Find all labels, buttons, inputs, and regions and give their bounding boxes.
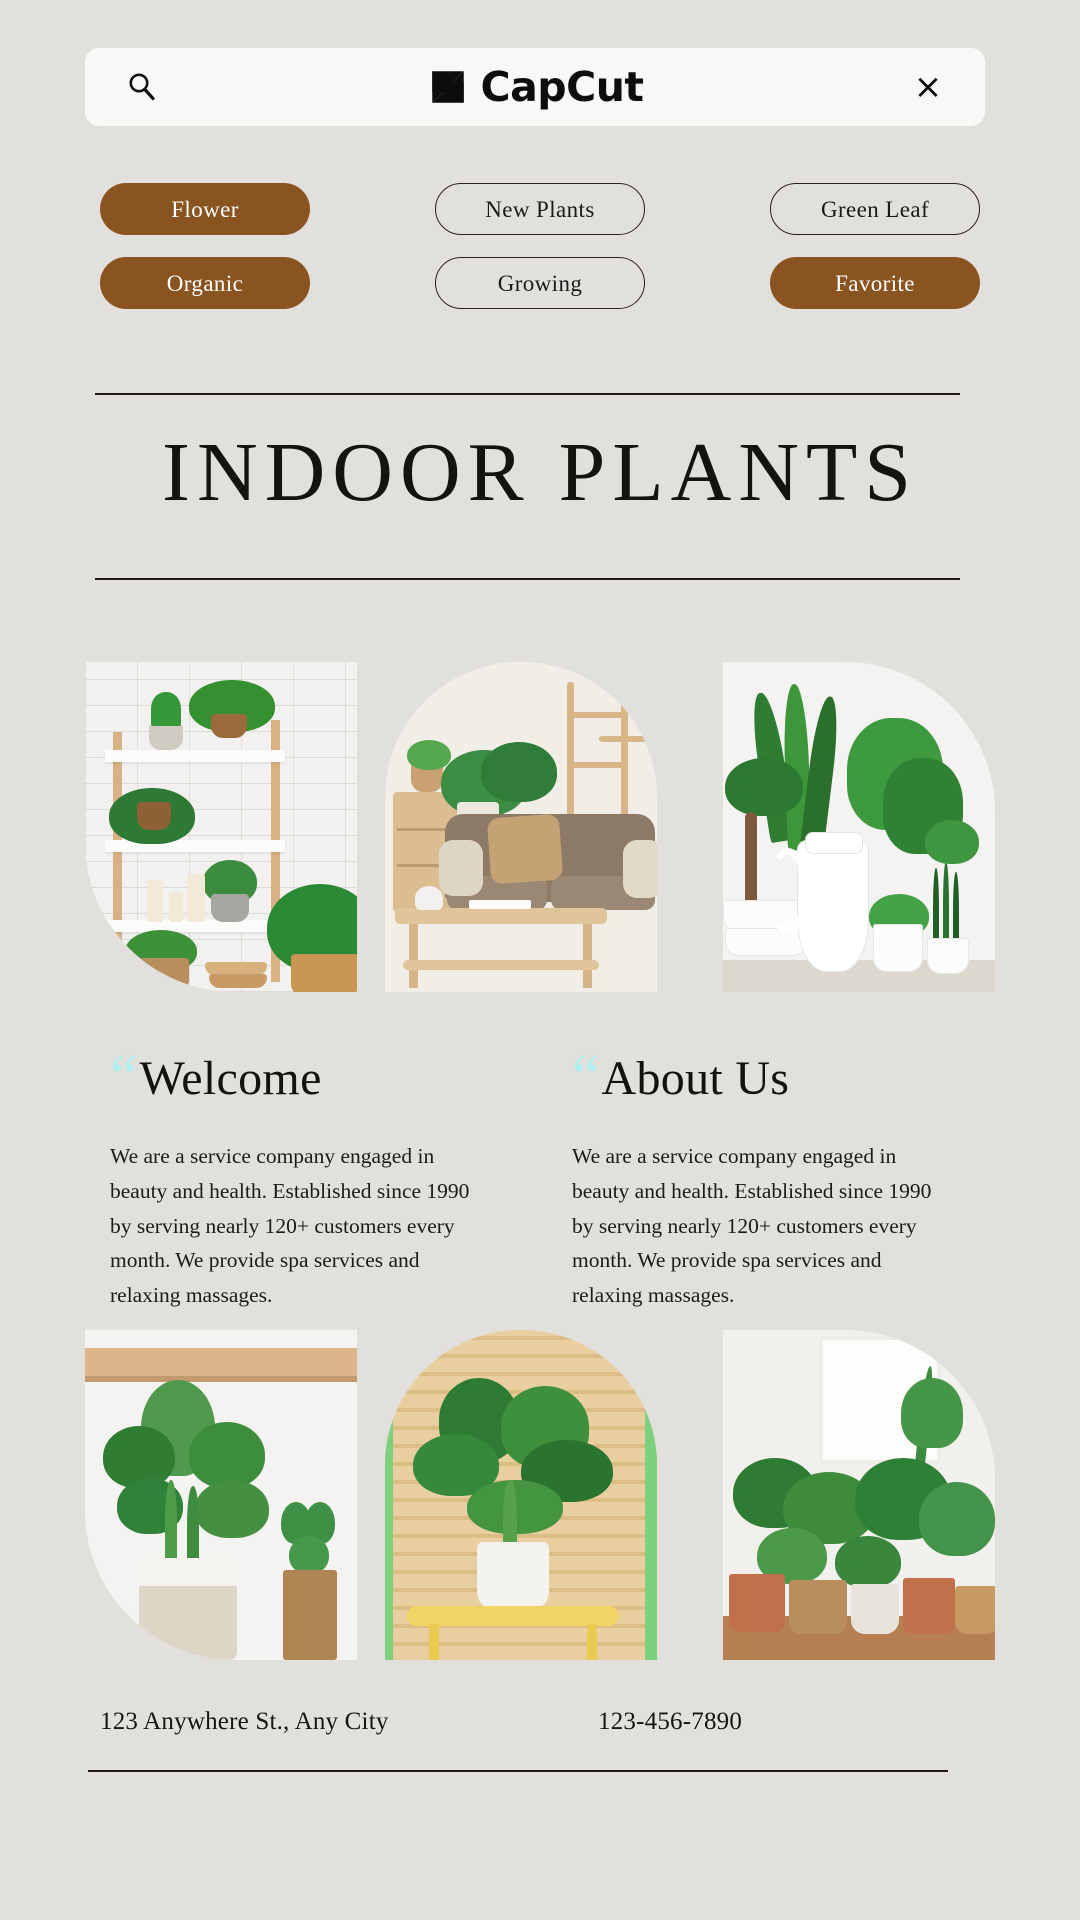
plant-on-yellow-table-photo (385, 1330, 657, 1660)
title-rule-top (95, 393, 960, 395)
tag-button-organic[interactable]: Organic (100, 257, 310, 309)
dieffenbachia-cactus-photo (85, 1330, 357, 1660)
tag-button-flower[interactable]: Flower (100, 183, 310, 235)
section-body: We are a service company engaged in beau… (110, 1139, 485, 1313)
tag-button-new-plants[interactable]: New Plants (435, 183, 645, 235)
title-rule-bottom (95, 578, 960, 580)
quote-icon: “ (110, 1055, 138, 1100)
gallery-item[interactable] (85, 662, 357, 992)
footer-rule (88, 1770, 948, 1772)
capcut-wordmark: CapCut (481, 63, 644, 111)
footer-phone: 123-456-7890 (598, 1708, 742, 1736)
section-body: We are a service company engaged in beau… (572, 1139, 947, 1313)
gallery-top (85, 662, 995, 992)
potted-plants-jug-photo (723, 662, 995, 992)
gallery-item[interactable] (723, 662, 995, 992)
tag-button-green-leaf[interactable]: Green Leaf (770, 183, 980, 235)
section-heading: Welcome (140, 1055, 322, 1103)
plant-shelf-photo (85, 662, 357, 992)
gallery-item[interactable] (385, 662, 657, 992)
page-title: INDOOR PLANTS (0, 425, 1080, 522)
footer-address: 123 Anywhere St., Any City (100, 1708, 389, 1736)
gallery-item[interactable] (85, 1330, 357, 1660)
quote-icon: “ (572, 1055, 600, 1100)
gallery-item[interactable] (723, 1330, 995, 1660)
poster-page: CapCut × Flower New Plants Green Leaf Or… (0, 0, 1080, 1920)
capcut-brand: CapCut (165, 63, 905, 111)
living-room-sofa-photo (385, 662, 657, 992)
gallery-item[interactable] (385, 1330, 657, 1660)
window-plant-collection-photo (723, 1330, 995, 1660)
capcut-toolbar: CapCut × (85, 48, 985, 126)
section-about-us: “ About Us We are a service company enga… (572, 1055, 972, 1313)
gallery-bottom (85, 1330, 995, 1660)
tag-button-favorite[interactable]: Favorite (770, 257, 980, 309)
search-icon[interactable] (119, 64, 165, 110)
close-icon[interactable]: × (905, 64, 951, 110)
section-heading: About Us (602, 1055, 790, 1103)
capcut-logo-icon (427, 66, 469, 108)
section-welcome: “ Welcome We are a service company engag… (110, 1055, 510, 1313)
tag-button-grid: Flower New Plants Green Leaf Organic Gro… (100, 183, 980, 309)
tag-button-growing[interactable]: Growing (435, 257, 645, 309)
